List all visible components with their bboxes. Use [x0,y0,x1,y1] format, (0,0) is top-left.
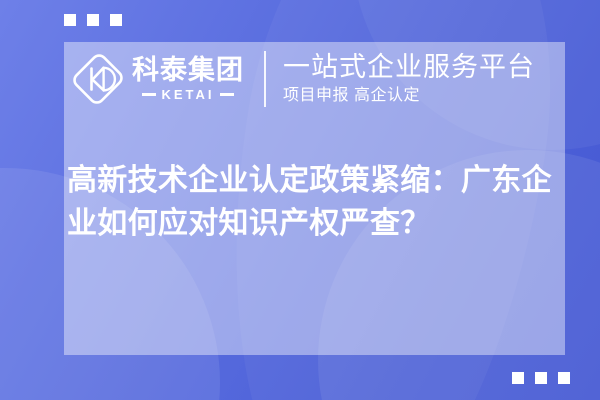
square-dot-icon [87,14,99,26]
ketai-diamond-monogram-logo-icon [72,53,124,105]
dots-bottom-right [512,372,570,384]
logo-latin-name: KETAI [161,88,214,101]
logo-rule-left [142,93,156,96]
logo-latin-row: KETAI [142,88,233,101]
vertical-divider [264,51,266,107]
tagline-sub: 项目申报 高企认定 [283,85,535,107]
tagline-main: 一站式企业服务平台 [283,52,535,82]
logo-chinese-name: 科泰集团 [132,57,244,84]
tagline-block: 一站式企业服务平台 项目申报 高企认定 [283,52,535,107]
logo-rule-right [220,93,234,96]
square-dot-icon [110,14,122,26]
logo-wordmark: 科泰集团 KETAI [132,57,244,101]
banner-header: 科泰集团 KETAI 一站式企业服务平台 项目申报 高企认定 [64,42,565,116]
dots-top-left [64,14,122,26]
brand-logo[interactable]: 科泰集团 KETAI [72,53,244,105]
square-dot-icon [535,372,547,384]
promo-banner: 科泰集团 KETAI 一站式企业服务平台 项目申报 高企认定 高新技术企业认定政… [0,0,600,400]
square-dot-icon [558,372,570,384]
square-dot-icon [512,372,524,384]
square-dot-icon [64,14,76,26]
page-title: 高新技术企业认定政策紧缩：广东企业如何应对知识产权严查？ [67,160,559,245]
